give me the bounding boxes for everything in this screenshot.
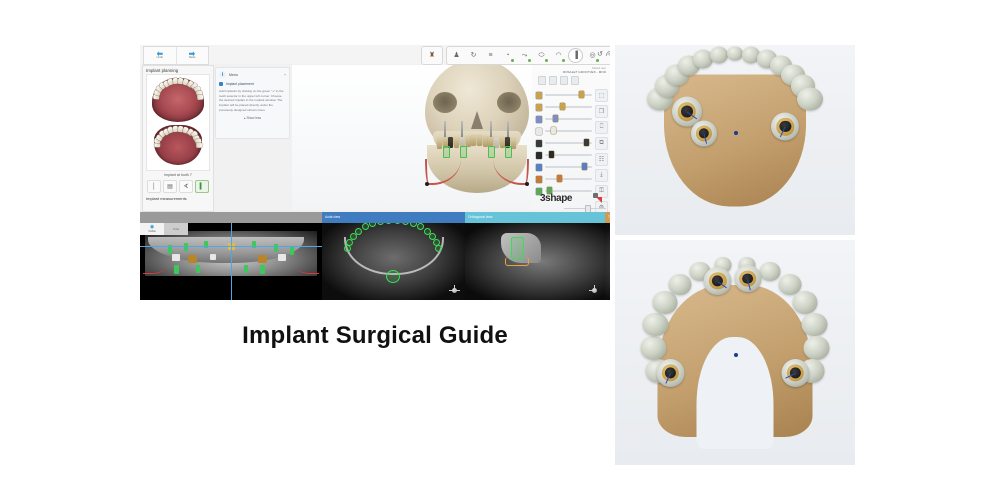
visualization-sidebar: Default user ROSALET GROOTJES - MOD ⬚❐⎕⧉… bbox=[532, 65, 610, 210]
slider-swatch bbox=[536, 128, 542, 135]
slider-swatch bbox=[536, 164, 542, 171]
bone-density-icon: ◠ bbox=[555, 52, 561, 59]
left-orbit bbox=[433, 92, 457, 113]
slider-track[interactable] bbox=[545, 142, 592, 143]
export-button[interactable]: ⤓ bbox=[595, 169, 608, 182]
slider-knob[interactable] bbox=[582, 163, 587, 170]
info-icon: i bbox=[219, 71, 226, 78]
info-card-body: Add implants by clicking on the green "+… bbox=[219, 89, 286, 112]
slider-swatch bbox=[536, 116, 542, 123]
info-card-subtitle-row: Implant placement bbox=[219, 82, 286, 86]
status-dot bbox=[511, 59, 514, 62]
show-less-button[interactable]: ▴ Show less bbox=[219, 116, 286, 120]
implant-axis-pin bbox=[507, 121, 509, 137]
implant-library-icon: ♟ bbox=[453, 52, 459, 59]
planned-implant-marker bbox=[204, 241, 208, 248]
brand-logo-text: 3shape bbox=[540, 193, 572, 204]
slider-knob[interactable] bbox=[557, 175, 562, 182]
crosshair-vertical[interactable] bbox=[231, 223, 232, 300]
slider-knob[interactable] bbox=[584, 139, 589, 146]
skull-volume-render bbox=[417, 65, 537, 209]
info-card-header[interactable]: i Menu ▾ bbox=[219, 71, 286, 78]
tab-tools[interactable]: Tools bbox=[164, 223, 188, 235]
mandibular-guide-model[interactable] bbox=[630, 58, 840, 223]
layers-button[interactable]: ⧉ bbox=[595, 137, 608, 150]
upper-arch-surgical-guide-photo bbox=[615, 240, 855, 465]
implant-angle-button[interactable]: ∢ bbox=[179, 180, 193, 193]
refresh-view-button[interactable]: ↺ bbox=[592, 46, 608, 63]
guide-sleeve[interactable] bbox=[781, 359, 809, 387]
chevron-down-icon[interactable]: ▾ bbox=[284, 73, 286, 76]
orthogonal-view-header: Orthogonal view bbox=[465, 212, 605, 223]
slider-knob[interactable] bbox=[553, 115, 558, 122]
implant-depth-icon: │ bbox=[152, 184, 156, 190]
panoramic-curve-icon: ≡ bbox=[488, 52, 492, 59]
slider-swatch bbox=[536, 92, 542, 99]
status-dot bbox=[545, 59, 548, 62]
document-button[interactable]: ☷ bbox=[595, 153, 608, 166]
implant-axis-pin bbox=[444, 121, 446, 137]
axis-y bbox=[454, 285, 455, 289]
scan-alignment-icon: ◔ bbox=[505, 52, 509, 59]
implant-library-button[interactable]: ♟ bbox=[449, 48, 464, 63]
lower-arch-surgical-guide-photo bbox=[615, 45, 855, 235]
guide-tooth bbox=[804, 336, 830, 360]
logo-triangle bbox=[596, 197, 602, 203]
slider-knob[interactable] bbox=[560, 103, 565, 110]
slider-knob[interactable] bbox=[579, 91, 584, 98]
restoration-marker bbox=[188, 255, 197, 263]
tooth-3d bbox=[471, 135, 476, 146]
axial-slice-view[interactable] bbox=[322, 223, 465, 300]
planned-implant-marker bbox=[184, 243, 188, 251]
guide-tooth bbox=[727, 46, 743, 61]
axis-x bbox=[589, 290, 593, 291]
slider-track[interactable] bbox=[545, 130, 592, 131]
bone-density-button[interactable]: ◠ bbox=[551, 48, 566, 63]
guide-sleeve[interactable] bbox=[657, 359, 685, 387]
redo-label: Redo bbox=[189, 57, 195, 60]
implant-axis-pin bbox=[461, 121, 463, 137]
restoration-marker bbox=[258, 255, 267, 263]
rotation-center-dot bbox=[734, 131, 738, 135]
tooth[interactable] bbox=[196, 143, 202, 148]
planned-implant-marker bbox=[244, 265, 248, 273]
upper-teeth-row bbox=[152, 78, 204, 122]
sharpness-slider[interactable] bbox=[536, 149, 592, 161]
panoramic-view-tabs: ◉ Visible Tools bbox=[140, 223, 188, 235]
tab-visible[interactable]: ◉ Visible bbox=[140, 223, 164, 235]
save-project-button[interactable]: ⬚ bbox=[595, 89, 608, 102]
slider-track[interactable] bbox=[545, 106, 592, 107]
panoramic-view[interactable]: ◉ Visible Tools bbox=[140, 223, 322, 300]
measurements-title: Implant measurements bbox=[143, 193, 213, 202]
axis-x bbox=[449, 290, 453, 291]
slider-track[interactable] bbox=[545, 178, 592, 179]
tooth-3d bbox=[500, 137, 505, 148]
tooth-3d bbox=[437, 138, 442, 149]
slider-track[interactable] bbox=[545, 118, 592, 119]
preset-button-3[interactable] bbox=[560, 76, 568, 85]
3shape-logo-mark-icon bbox=[593, 193, 602, 203]
slider-swatch bbox=[536, 176, 542, 183]
right-orbit bbox=[497, 92, 521, 113]
nerve-tip-icon bbox=[525, 182, 529, 186]
orientation-axes-icon bbox=[449, 285, 460, 296]
guide-tooth bbox=[760, 262, 780, 281]
planned-implant-marker bbox=[260, 265, 265, 274]
implant-platform-icon: ▤ bbox=[167, 183, 173, 190]
rotation-center-dot bbox=[734, 353, 738, 357]
orientation-axes-icon bbox=[589, 285, 600, 296]
restoration-marker bbox=[210, 254, 216, 260]
preset-button-1[interactable] bbox=[538, 76, 546, 85]
tooth-3d bbox=[454, 137, 459, 148]
help-info-card: i Menu ▾ Implant placement Add implants … bbox=[215, 67, 290, 139]
preset-button-2[interactable] bbox=[549, 76, 557, 85]
slider-track[interactable] bbox=[545, 154, 592, 155]
tangential-ct-image bbox=[605, 223, 610, 300]
show-less-label: Show less bbox=[246, 116, 261, 120]
planned-implant-outline bbox=[443, 146, 450, 158]
threshold-slider[interactable] bbox=[536, 125, 592, 137]
slider-swatch bbox=[536, 140, 542, 147]
slider-track[interactable] bbox=[545, 190, 592, 191]
planned-implant-marker bbox=[174, 265, 179, 274]
preset-button-4[interactable] bbox=[571, 76, 579, 85]
axial-selected-implant bbox=[386, 270, 400, 283]
planned-implant-outline bbox=[488, 146, 495, 158]
tooth-selector[interactable] bbox=[146, 74, 210, 171]
undo-button[interactable]: Undo bbox=[144, 47, 176, 64]
tool-button-strip: ♟↻≡◔⤳⬭◠▐◎⛏↺ bbox=[446, 46, 610, 65]
tooth-3d bbox=[483, 136, 488, 147]
dentition-3d bbox=[437, 135, 517, 149]
slider-knob[interactable] bbox=[551, 127, 556, 134]
layers-icon: ⧉ bbox=[599, 140, 603, 147]
status-dot bbox=[528, 59, 531, 62]
restoration-marker bbox=[278, 254, 286, 261]
copy-icon: ❐ bbox=[599, 108, 604, 115]
slider-swatch bbox=[536, 104, 542, 111]
axis-y bbox=[594, 285, 595, 289]
depth-slider[interactable] bbox=[536, 173, 592, 185]
application-toolbar: Undo Redo ♜ ♟↻≡◔⤳⬭◠▐◎⛏↺ ↺ bbox=[140, 45, 610, 64]
page-button[interactable]: ⎕ bbox=[595, 121, 608, 134]
implant-axis-pin bbox=[490, 121, 492, 137]
tooth-3d bbox=[477, 135, 482, 146]
axial-tooth-outline bbox=[435, 245, 442, 252]
contrast-slider[interactable] bbox=[536, 101, 592, 113]
model-tool-button[interactable]: ♜ bbox=[421, 46, 443, 65]
guide-tooth bbox=[793, 291, 818, 314]
guide-sleeve[interactable] bbox=[691, 120, 717, 146]
info-card-title: Menu bbox=[229, 73, 281, 77]
status-dot bbox=[562, 59, 565, 62]
nerve-tip-icon bbox=[425, 182, 429, 186]
save-project-icon: ⬚ bbox=[599, 92, 605, 99]
planned-implant-marker bbox=[196, 265, 200, 273]
slider-knob[interactable] bbox=[549, 151, 554, 158]
axial-tooth-outline bbox=[344, 245, 351, 252]
nerve-canal-button[interactable]: ⤳ bbox=[517, 48, 532, 63]
restoration-marker bbox=[172, 254, 180, 261]
tangential-slice-view[interactable] bbox=[605, 223, 610, 300]
zoom-slider[interactable] bbox=[536, 161, 592, 173]
planned-implant-marker bbox=[252, 241, 256, 248]
guide-tooth bbox=[653, 291, 678, 314]
crown-design-button[interactable]: ⬭ bbox=[534, 48, 549, 63]
axial-view-header: Axial view bbox=[322, 212, 465, 223]
ortho-nerve-contour bbox=[505, 257, 529, 266]
implant-angle-icon: ∢ bbox=[183, 183, 188, 190]
implant-placement-icon: ▐ bbox=[573, 52, 578, 59]
tooth-3d bbox=[466, 136, 471, 147]
planned-implant-outline bbox=[460, 146, 467, 158]
guide-tooth bbox=[710, 47, 728, 64]
lower-arch-diagram[interactable] bbox=[154, 125, 202, 165]
guide-tooth bbox=[779, 274, 802, 295]
undo-label: Undo bbox=[157, 57, 163, 60]
bullet-icon bbox=[219, 82, 223, 86]
redo-button[interactable]: Redo bbox=[176, 47, 209, 64]
implant-depth-button[interactable]: │ bbox=[147, 180, 161, 193]
document-icon: ☷ bbox=[599, 156, 604, 163]
implant-body-button[interactable]: ▍ bbox=[195, 180, 209, 193]
crown-design-icon: ⬭ bbox=[539, 52, 545, 59]
reset-view-icon: ↻ bbox=[471, 52, 477, 59]
implant-planning-application: Undo Redo ♜ ♟↻≡◔⤳⬭◠▐◎⛏↺ ↺ Implant planni… bbox=[140, 45, 610, 300]
implant-platform-button[interactable]: ▤ bbox=[163, 180, 177, 193]
sidebar-title: Implant planning bbox=[143, 66, 213, 74]
guide-tooth bbox=[797, 87, 822, 110]
tab-tools-label: Tools bbox=[173, 228, 179, 231]
export-icon: ⤓ bbox=[600, 172, 603, 179]
slice-viewer-row: ◉ Visible Tools bbox=[140, 223, 610, 300]
user-info: Default user ROSALET GROOTJES - MOD bbox=[532, 65, 610, 74]
orthogonal-slice-view[interactable] bbox=[465, 223, 605, 300]
model-tool-icon: ♜ bbox=[429, 52, 435, 59]
tooth[interactable] bbox=[197, 94, 203, 99]
lower-teeth-row bbox=[154, 125, 202, 165]
guide-tooth bbox=[801, 313, 827, 337]
page-title: Implant Surgical Guide bbox=[140, 322, 610, 350]
guide-tooth bbox=[643, 313, 669, 337]
brightness-slider[interactable] bbox=[536, 89, 592, 101]
slider-swatch bbox=[536, 152, 542, 159]
guide-tooth bbox=[640, 336, 666, 360]
copy-button[interactable]: ❐ bbox=[595, 105, 608, 118]
info-card-subtitle: Implant placement bbox=[226, 82, 254, 86]
implant-tool-row: │▤∢▍ bbox=[143, 177, 213, 193]
visualization-sliders bbox=[536, 89, 592, 197]
refresh-icon: ↺ bbox=[597, 51, 603, 58]
ortho-implant-outline bbox=[511, 237, 524, 259]
axis-z bbox=[456, 290, 460, 291]
opacity-slider[interactable] bbox=[536, 113, 592, 125]
slider-track[interactable] bbox=[545, 94, 592, 95]
implant-planning-sidebar: Implant planning Implant at tooth 7 │▤∢▍… bbox=[142, 65, 214, 212]
slider-track[interactable] bbox=[545, 166, 592, 167]
reset-view-button[interactable]: ↻ bbox=[466, 48, 481, 63]
implant-body-icon: ▍ bbox=[200, 183, 205, 190]
nerve-canal-icon: ⤳ bbox=[522, 52, 528, 59]
preset-buttons bbox=[532, 74, 610, 85]
implant-placement-button[interactable]: ▐ bbox=[568, 48, 583, 63]
upper-arch-diagram[interactable] bbox=[152, 78, 204, 122]
page-icon: ⎕ bbox=[600, 124, 604, 131]
guide-tooth bbox=[669, 274, 692, 295]
tangential-view-header: Tangential view bbox=[605, 212, 610, 223]
tab-visible-label: Visible bbox=[148, 230, 156, 233]
scan-alignment-button[interactable]: ◔ bbox=[500, 48, 515, 63]
guide-sleeve[interactable] bbox=[734, 265, 761, 292]
panoramic-curve-button[interactable]: ≡ bbox=[483, 48, 498, 63]
planned-implant-outline bbox=[505, 146, 512, 158]
planned-implant-marker bbox=[290, 246, 294, 255]
density-slider[interactable] bbox=[536, 137, 592, 149]
undo-redo-group: Undo Redo bbox=[143, 46, 209, 65]
slice-slider[interactable] bbox=[564, 205, 606, 211]
